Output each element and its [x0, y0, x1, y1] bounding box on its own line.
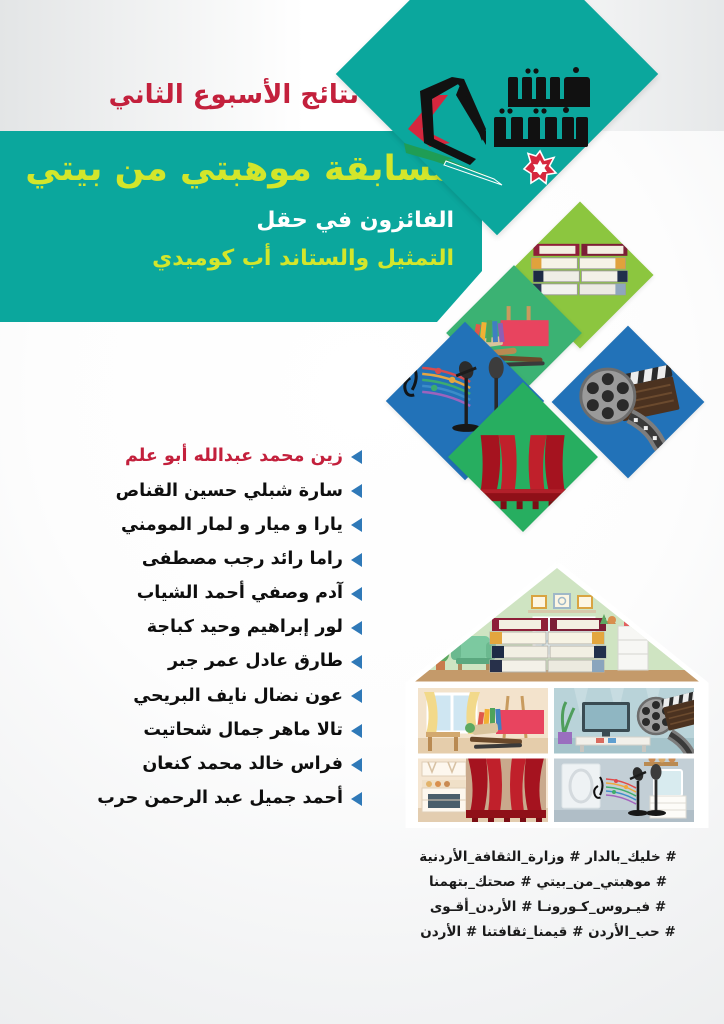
triangle-left-icon [351, 621, 362, 635]
logo-word-wizara [508, 67, 590, 107]
winner-name: فراس خالد محمد كنعان [142, 756, 343, 774]
art-studio-room [418, 688, 548, 754]
winner-row[interactable]: سارة شبلي حسين القناص [96, 474, 362, 508]
winner-row[interactable]: يارا و ميار و لمار المومني [96, 508, 362, 542]
seven-pointed-star-icon [524, 151, 556, 184]
winner-row[interactable]: تالا ماهر جمال شحاتيت [96, 714, 362, 748]
winner-name: راما رائد رجب مصطفى [142, 551, 343, 569]
winner-row[interactable]: راما رائد رجب مصطفى [96, 543, 362, 577]
winner-row[interactable]: عون نضال نايف البريحي [96, 679, 362, 713]
poster-canvas: نتائج الأسبوع الثاني مسابقة موهبتي من بي… [0, 0, 724, 1024]
winners-list: زين محمد عبدالله أبو علم سارة شبلي حسين … [96, 440, 362, 816]
logo-svg [390, 55, 605, 195]
triangle-left-icon [351, 655, 362, 669]
winner-name: أحمد جميل عبد الرحمن حرب [97, 790, 343, 808]
hashtag-line: # خليك_بالدار # وزارة_الثقافة_الأردنية [388, 845, 708, 870]
triangle-left-icon [351, 758, 362, 772]
winner-name: يارا و ميار و لمار المومني [121, 517, 343, 535]
winner-name: عون نضال نايف البريحي [133, 688, 343, 706]
cinema-room [554, 688, 708, 762]
theater-room [418, 758, 548, 823]
hashtag-line: # حب_الأردن # قيمنا_ثقافتنا # الأردن [388, 920, 708, 945]
subtitle-line-two: التمثيل والستاند أب كوميدي [24, 247, 454, 271]
results-eyebrow-text: نتائج الأسبوع الثاني [29, 82, 359, 108]
winner-name: لور إبراهيم وحيد كباجة [147, 619, 343, 637]
winner-name: آدم وصفي أحمد الشياب [137, 585, 343, 603]
triangle-left-icon [351, 724, 362, 738]
mic-stand-left [452, 359, 480, 432]
triangle-left-icon [351, 553, 362, 567]
attic-books-room [404, 562, 710, 684]
reel-icon [581, 369, 635, 423]
winner-name: زين محمد عبدالله أبو علم [125, 448, 343, 466]
triangle-left-icon [351, 518, 362, 532]
hashtags-block: # خليك_بالدار # وزارة_الثقافة_الأردنية #… [388, 845, 708, 945]
music-room [554, 756, 694, 823]
open-book-icon [404, 77, 502, 185]
triangle-left-icon [351, 450, 362, 464]
triangle-left-icon [351, 792, 362, 806]
triangle-left-icon [351, 689, 362, 703]
hashtag-line: # موهبتي_من_بيتي # صحتك_بتهمنا [388, 870, 708, 895]
house-of-talents-illustration [404, 562, 710, 828]
house-svg [404, 562, 710, 828]
winner-row[interactable]: طارق عادل عمر جبر [96, 645, 362, 679]
film-strip-icon [630, 416, 672, 452]
winner-name: طارق عادل عمر جبر [168, 653, 343, 671]
winner-row[interactable]: فراس خالد محمد كنعان [96, 748, 362, 782]
hashtag-line: # فيـروس_كـورونـا # الأردن_أقـوى [388, 895, 708, 920]
winner-row[interactable]: لور إبراهيم وحيد كباجة [96, 611, 362, 645]
winner-row[interactable]: أحمد جميل عبد الرحمن حرب [96, 782, 362, 816]
winner-row[interactable]: زين محمد عبدالله أبو علم [96, 440, 362, 474]
winner-name: تالا ماهر جمال شحاتيت [143, 722, 343, 740]
logo-word-thaqafa [494, 107, 588, 147]
subtitle-line-one: الفائزون في حقل [24, 209, 454, 233]
winner-row[interactable]: آدم وصفي أحمد الشياب [96, 577, 362, 611]
triangle-left-icon [351, 587, 362, 601]
ministry-of-culture-logo [390, 55, 605, 195]
winner-name: سارة شبلي حسين القناص [116, 483, 343, 501]
triangle-left-icon [351, 484, 362, 498]
